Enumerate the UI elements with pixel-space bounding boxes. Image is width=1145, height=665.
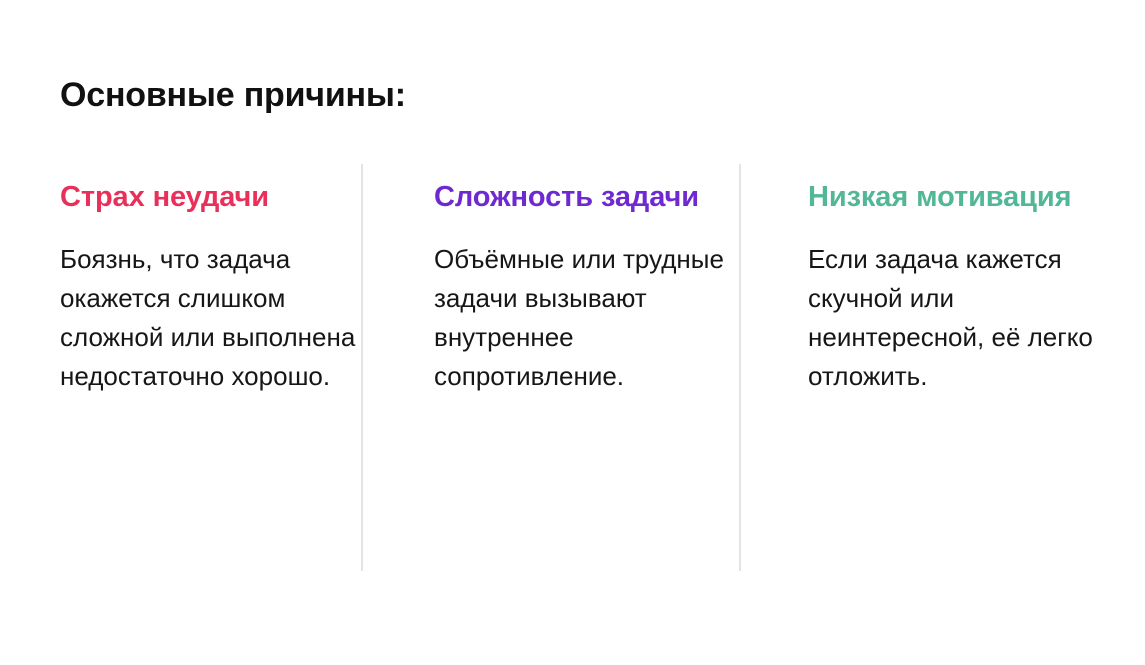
reason-heading: Низкая мотивация [808,164,1120,219]
reason-body: Боязнь, что задача окажется слишком слож… [60,219,362,396]
slide-canvas: Основные причины: Страх неудачи Боязнь, … [0,0,1145,665]
reasons-columns: Страх неудачи Боязнь, что задача окажетс… [0,164,1145,574]
reason-heading: Страх неудачи [60,164,362,219]
reason-column-low-motivation: Низкая мотивация Если задача кажется ску… [808,164,1120,574]
reason-heading: Сложность задачи [434,164,736,219]
reason-column-task-complexity: Сложность задачи Объёмные или трудные за… [434,164,736,574]
reason-column-fear-of-failure: Страх неудачи Боязнь, что задача окажетс… [60,164,362,574]
reason-body: Объёмные или трудные задачи вызывают вну… [434,219,736,396]
reason-body: Если задача кажется скучной или неинтере… [808,219,1120,396]
page-title: Основные причины: [60,74,406,116]
